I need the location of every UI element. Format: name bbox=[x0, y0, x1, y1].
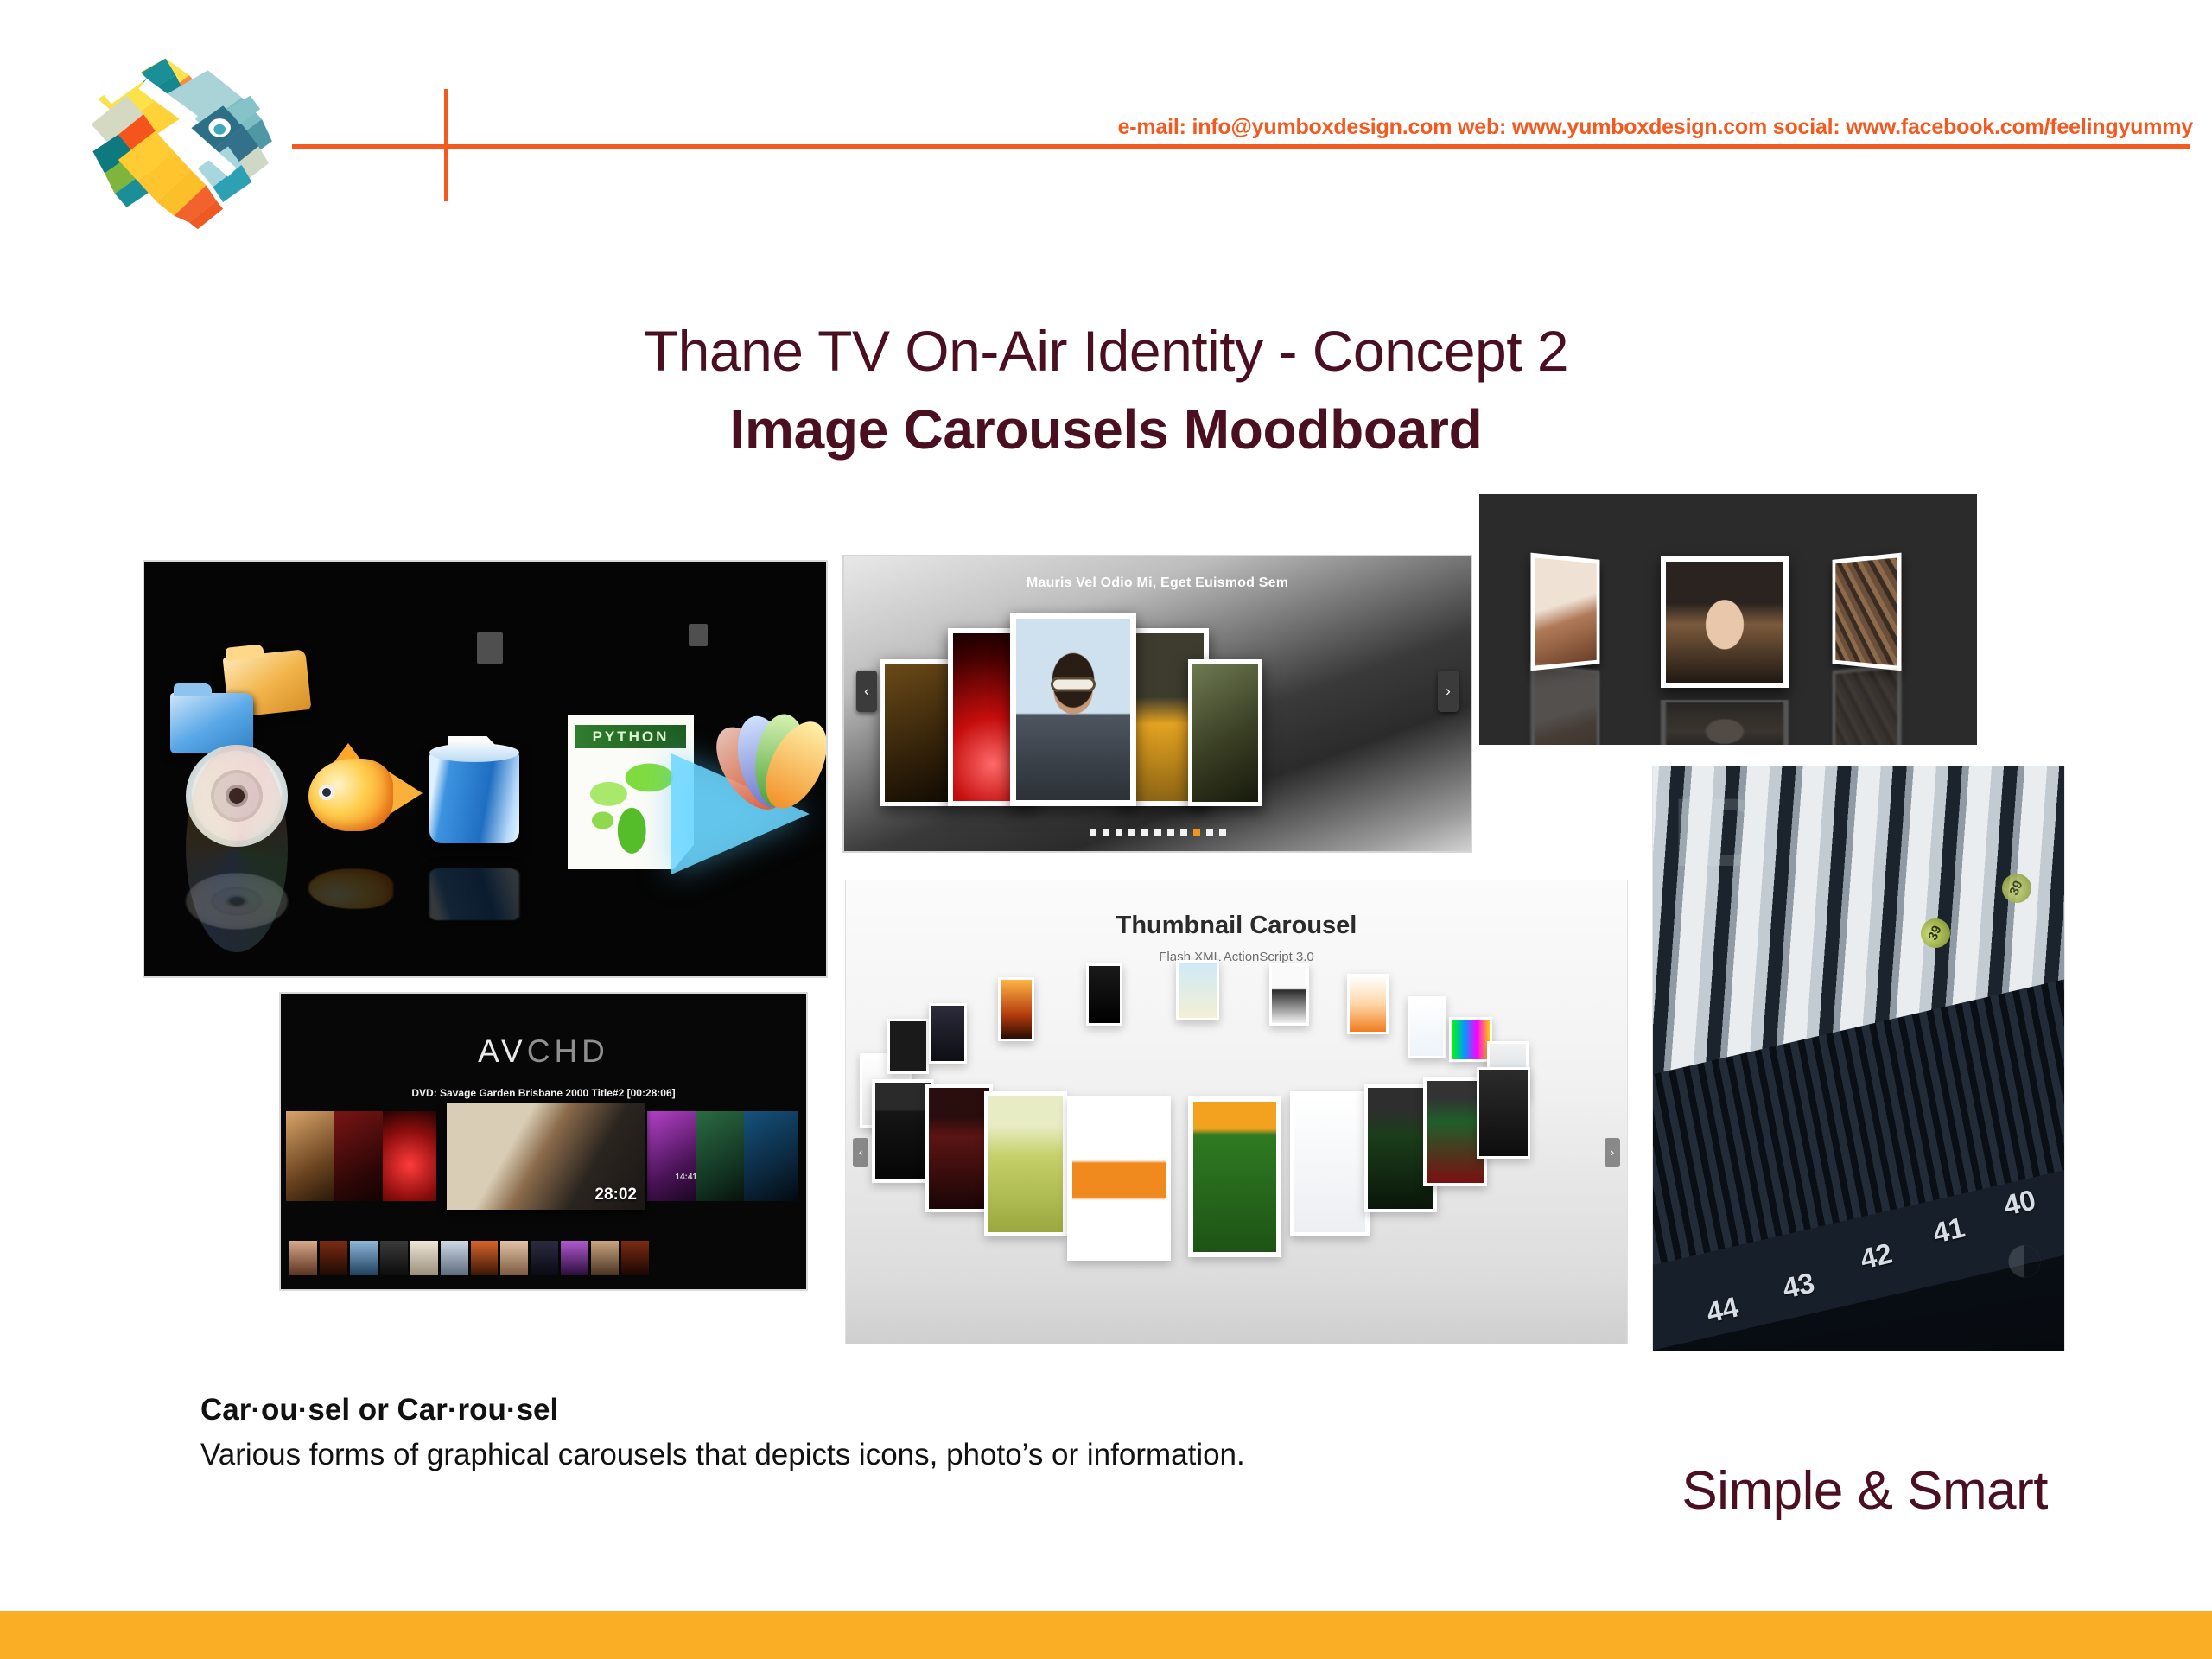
carousel-thumb[interactable] bbox=[1449, 1017, 1492, 1062]
page-title: Thane TV On-Air Identity - Concept 2 bbox=[0, 318, 2212, 384]
carousel-prev-arrow-icon[interactable]: ‹ bbox=[856, 671, 877, 712]
avchd-wordmark-light: AV bbox=[478, 1033, 527, 1069]
avchd-wordmark-dim: CHD bbox=[527, 1033, 609, 1069]
video-thumb[interactable]: 14:41 bbox=[647, 1111, 701, 1201]
watermark-logo: ◐ bbox=[2002, 1215, 2049, 1300]
carousel-thumb[interactable] bbox=[925, 1084, 993, 1212]
filing-rack-photo: ID 39 39 44 43 42 41 40 ◐ bbox=[1652, 766, 2065, 1351]
avchd-video-carousel[interactable]: AVCHD DVD: Savage Garden Brisbane 2000 T… bbox=[279, 992, 808, 1291]
desktop-icons-carousel[interactable]: PYTHON bbox=[143, 560, 828, 978]
rack-number: 44 bbox=[1703, 1290, 1741, 1329]
dim-file-icon bbox=[689, 624, 708, 646]
video-thumb[interactable] bbox=[383, 1111, 436, 1201]
pagination-dot[interactable] bbox=[1180, 829, 1187, 836]
photo-reflection bbox=[1661, 700, 1789, 745]
timecode-main: 28:02 bbox=[594, 1185, 637, 1205]
caption-body: Various forms of graphical carousels tha… bbox=[200, 1438, 1245, 1472]
rack-number: 41 bbox=[1929, 1211, 1967, 1249]
video-thumb[interactable] bbox=[334, 1111, 388, 1201]
video-thumb[interactable] bbox=[286, 1111, 340, 1201]
pagination-dot[interactable] bbox=[1167, 829, 1174, 836]
mauris-coverflow-carousel[interactable]: Mauris Vel Odio Mi, Eget Euismod Sem ‹ › bbox=[842, 555, 1472, 853]
carousel-thumb[interactable] bbox=[1176, 960, 1219, 1020]
pagination-dot[interactable] bbox=[1154, 829, 1161, 836]
avchd-wordmark: AVCHD bbox=[281, 1033, 806, 1070]
carousel-thumb[interactable] bbox=[887, 1019, 929, 1074]
pagination-dot-active[interactable] bbox=[1193, 829, 1200, 836]
pagination-dot[interactable] bbox=[1141, 829, 1148, 836]
coverflow-slide[interactable] bbox=[1188, 659, 1262, 806]
watermark-text: ID bbox=[1672, 777, 1772, 888]
tagline: Simple & Smart bbox=[1681, 1460, 2048, 1522]
filmstrip-thumb[interactable] bbox=[500, 1241, 528, 1275]
timecode-side: 14:41 bbox=[675, 1173, 697, 1182]
rack-number: 43 bbox=[1779, 1266, 1817, 1305]
carousel-thumb[interactable] bbox=[929, 1003, 967, 1064]
carousel-thumb[interactable] bbox=[984, 1091, 1067, 1236]
carousel-thumb[interactable] bbox=[998, 977, 1034, 1041]
carousel-pagination-dots[interactable] bbox=[844, 829, 1471, 836]
pagination-dot[interactable] bbox=[1219, 829, 1226, 836]
pagination-dot[interactable] bbox=[1206, 829, 1213, 836]
carousel-thumb[interactable] bbox=[1477, 1067, 1530, 1159]
filmstrip-thumb[interactable] bbox=[471, 1241, 499, 1275]
photo-reflection bbox=[1833, 664, 1902, 745]
thumbnail-carousel-prev-icon[interactable]: ‹ bbox=[853, 1138, 868, 1167]
video-thumb-active[interactable]: 28:02 bbox=[447, 1103, 645, 1210]
dvd-title-label: DVD: Savage Garden Brisbane 2000 Title#2… bbox=[281, 1087, 806, 1099]
dim-file-icon bbox=[477, 632, 503, 664]
slide-canvas: e-mail: info@yumboxdesign.com web: www.y… bbox=[0, 0, 2212, 1659]
filmstrip-thumb[interactable] bbox=[441, 1241, 468, 1275]
filmstrip-thumb[interactable] bbox=[289, 1241, 317, 1275]
pagination-dot[interactable] bbox=[1090, 829, 1096, 836]
page-subtitle: Image Carousels Moodboard bbox=[0, 397, 2212, 461]
caption-heading: Car·ou·sel or Car·rou·sel bbox=[200, 1393, 558, 1427]
python-label: PYTHON bbox=[575, 725, 686, 748]
coverflow-caption: Mauris Vel Odio Mi, Eget Euismod Sem bbox=[844, 575, 1471, 591]
header-rule-vertical bbox=[444, 89, 448, 201]
carousel-thumb[interactable] bbox=[1408, 996, 1446, 1058]
contact-info: e-mail: info@yumboxdesign.com web: www.y… bbox=[1118, 115, 2193, 140]
cd-disc-icon bbox=[186, 745, 288, 952]
thumbnail-carousel-next-icon[interactable]: › bbox=[1605, 1138, 1620, 1167]
thumbnail-carousel-panel[interactable]: Thumbnail Carousel Flash XML ActionScrip… bbox=[845, 880, 1628, 1344]
filmstrip-thumb[interactable] bbox=[410, 1241, 438, 1275]
coverflow-slide[interactable] bbox=[880, 659, 955, 806]
pagination-dot[interactable] bbox=[1116, 829, 1122, 836]
rack-number: 42 bbox=[1857, 1236, 1895, 1275]
recycle-bin-icon bbox=[429, 741, 519, 947]
thumbnail-carousel-title: Thumbnail Carousel bbox=[846, 912, 1627, 940]
carousel-thumb[interactable] bbox=[1269, 963, 1309, 1026]
three-photo-3d-carousel[interactable] bbox=[1479, 494, 1977, 745]
filmstrip-thumb[interactable] bbox=[561, 1241, 588, 1275]
photo-slide[interactable] bbox=[1833, 553, 1902, 671]
pagination-dot[interactable] bbox=[1103, 829, 1109, 836]
carousel-thumb[interactable] bbox=[1347, 974, 1389, 1034]
color-fan-icon bbox=[725, 705, 828, 814]
photo-reflection bbox=[1530, 664, 1599, 745]
filmstrip-thumb[interactable] bbox=[380, 1241, 408, 1275]
thumbnail-carousel-subtitle: Flash XML ActionScript 3.0 bbox=[846, 950, 1627, 964]
carousel-thumb[interactable] bbox=[1086, 963, 1122, 1026]
carousel-next-arrow-icon[interactable]: › bbox=[1438, 671, 1459, 712]
filmstrip-thumb[interactable] bbox=[591, 1241, 619, 1275]
filmstrip-thumb[interactable] bbox=[621, 1241, 649, 1275]
goldfish-icon bbox=[289, 750, 419, 935]
photo-slide[interactable] bbox=[1530, 553, 1599, 671]
coverflow-slide-active[interactable] bbox=[1010, 613, 1136, 806]
header-rule-horizontal bbox=[292, 144, 2190, 149]
filmstrip-thumbnails[interactable] bbox=[289, 1241, 649, 1275]
video-thumb[interactable] bbox=[696, 1111, 749, 1201]
filmstrip-thumb[interactable] bbox=[531, 1241, 558, 1275]
filmstrip-thumb[interactable] bbox=[320, 1241, 347, 1275]
photo-slide-active[interactable] bbox=[1661, 556, 1789, 688]
video-thumb[interactable] bbox=[744, 1111, 798, 1201]
yumbox-design-logo bbox=[62, 41, 274, 240]
pagination-dot[interactable] bbox=[1128, 829, 1135, 836]
carousel-thumb[interactable] bbox=[1290, 1091, 1370, 1236]
carousel-thumb[interactable] bbox=[1067, 1096, 1171, 1261]
carousel-thumb[interactable] bbox=[1188, 1096, 1281, 1257]
filmstrip-thumb[interactable] bbox=[350, 1241, 378, 1275]
bottom-accent-bar bbox=[0, 1611, 2212, 1659]
